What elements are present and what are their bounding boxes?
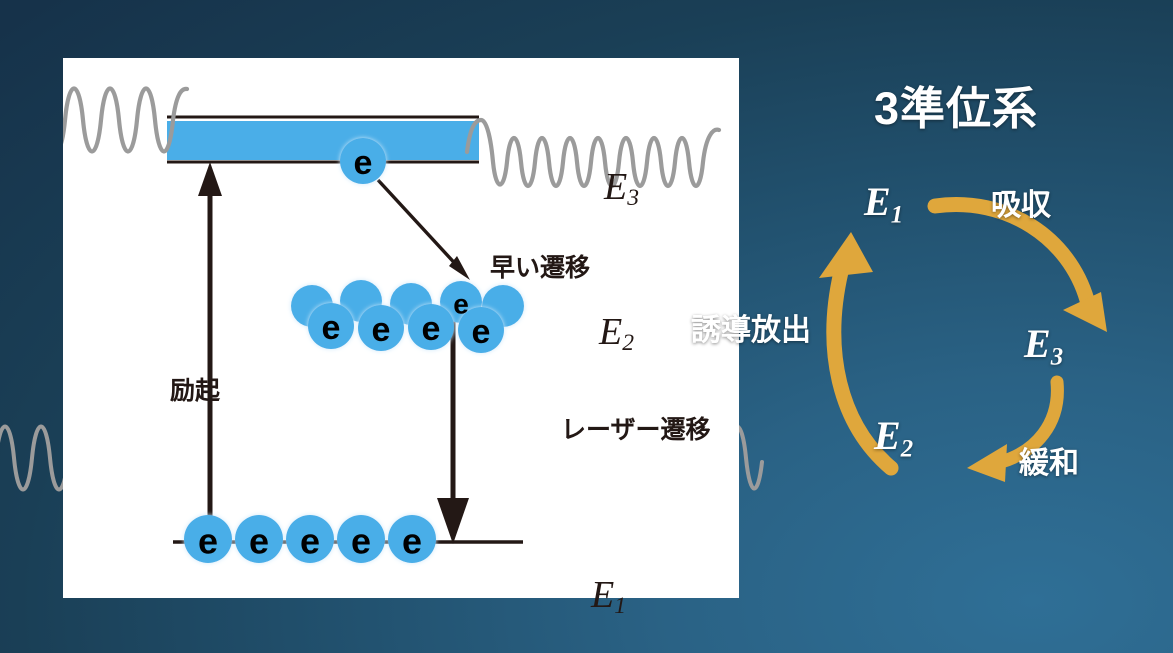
cycle-node-E1-main: E: [864, 179, 891, 224]
cycle-node-E2-main: E: [874, 413, 901, 458]
cycle-node-E2-sub: 2: [901, 435, 913, 462]
level-label-E2-sub: 2: [622, 330, 634, 356]
electron-glyph: e: [422, 310, 441, 348]
energy-level-diagram-panel: e e e e e e e e e e e 励起 早い遷移 レーザー遷移 E3 …: [63, 58, 739, 598]
cycle-node-E1: E1: [864, 178, 903, 229]
excitation-label: 励起: [170, 371, 220, 407]
electron-glyph-layer: e e e e e e e e e e e: [63, 58, 739, 598]
electron-glyph: e: [453, 289, 469, 320]
cycle-node-E1-sub: 1: [891, 201, 903, 228]
electron-glyph: e: [322, 309, 341, 347]
electron-glyph: e: [198, 521, 218, 562]
electron-glyph: e: [249, 521, 269, 562]
cycle-node-E3-main: E: [1024, 321, 1051, 366]
level-label-E3: E3: [604, 165, 639, 212]
level-label-E1-main: E: [591, 574, 614, 616]
relaxation-label: 緩和: [1019, 438, 1079, 482]
absorption-label: 吸収: [991, 180, 1051, 224]
electron-glyph: e: [354, 144, 373, 182]
electron-glyph: e: [300, 521, 320, 562]
level-label-E3-main: E: [604, 166, 627, 208]
cycle-node-E2: E2: [874, 412, 913, 463]
electron-glyph: e: [472, 313, 491, 351]
stimulated-emission-label: 誘導放出: [691, 305, 811, 349]
level-label-E3-sub: 3: [627, 185, 639, 211]
electron-glyph: e: [351, 521, 371, 562]
level-label-E1-sub: 1: [614, 593, 626, 619]
electron-glyph: e: [402, 521, 422, 562]
level-label-E2-main: E: [599, 311, 622, 353]
slide-canvas: e e e e e e e e e e e 励起 早い遷移 レーザー遷移 E3 …: [0, 0, 1173, 653]
fast-transition-label: 早い遷移: [490, 248, 590, 284]
cycle-node-E3-sub: 3: [1051, 343, 1063, 370]
laser-transition-label: レーザー遷移: [561, 410, 711, 446]
electron-glyph: e: [372, 311, 391, 349]
level-label-E1: E1: [591, 573, 626, 620]
cycle-node-E3: E3: [1024, 320, 1063, 371]
level-label-E2: E2: [599, 310, 634, 357]
